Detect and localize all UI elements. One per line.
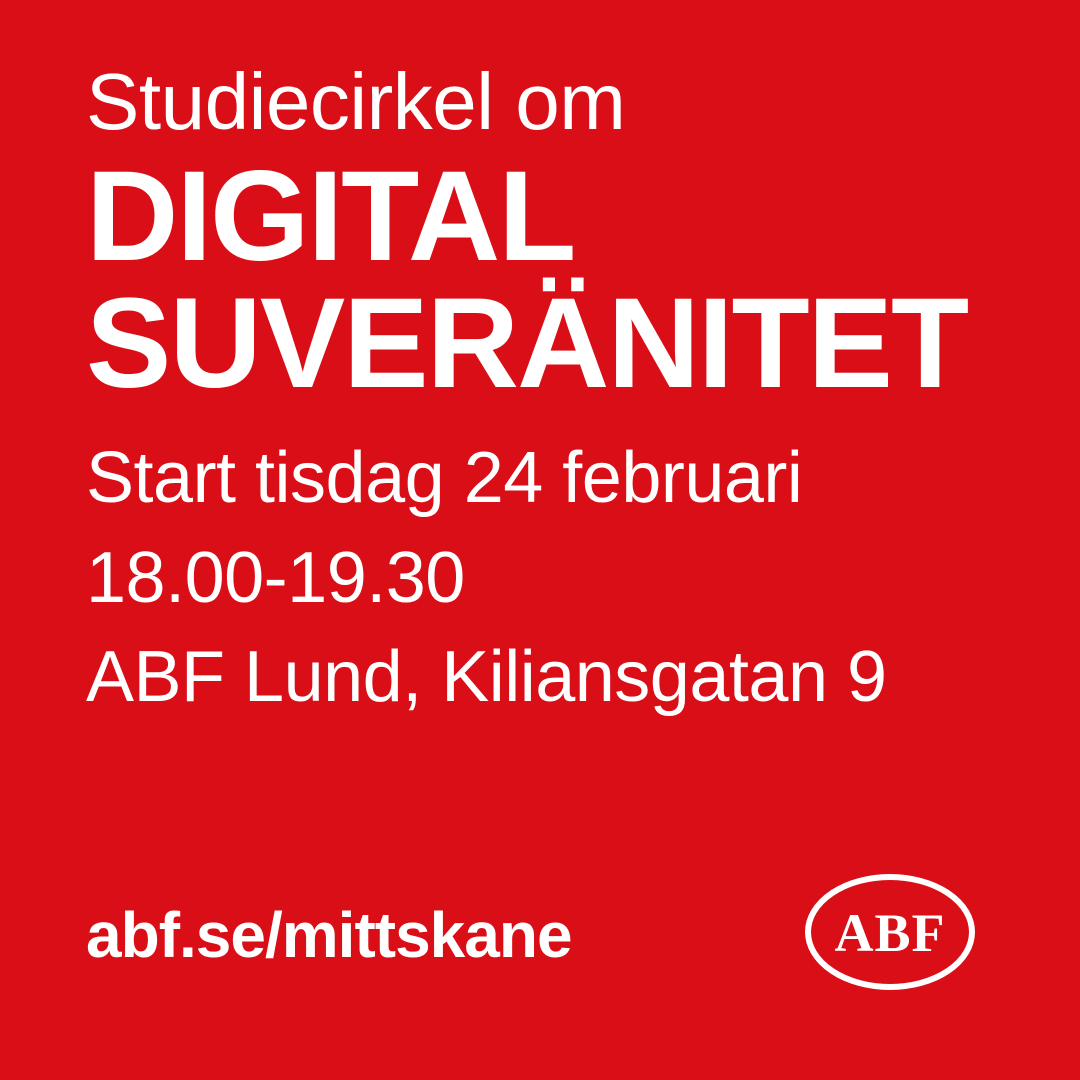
poster-headline: DIGITAL SUVERÄNITET [86,154,1026,407]
headline-line-2: SUVERÄNITET [86,281,1026,408]
detail-location: ABF Lund, Kiliansgatan 9 [86,628,1026,727]
logo-text: ABF [835,903,946,963]
abf-logo: ABF [803,871,977,993]
headline-line-1: DIGITAL [86,154,1026,281]
poster-text-block: Studiecirkel om DIGITAL SUVERÄNITET Star… [86,62,1026,728]
detail-time: 18.00-19.30 [86,529,1026,628]
poster-url[interactable]: abf.se/mittskane [86,903,572,967]
poster-canvas: Studiecirkel om DIGITAL SUVERÄNITET Star… [0,0,1080,1080]
poster-kicker: Studiecirkel om [86,62,1026,142]
poster-details: Start tisdag 24 februari 18.00-19.30 ABF… [86,429,1026,727]
detail-start-date: Start tisdag 24 februari [86,429,1026,528]
abf-logo-icon: ABF [803,871,977,993]
